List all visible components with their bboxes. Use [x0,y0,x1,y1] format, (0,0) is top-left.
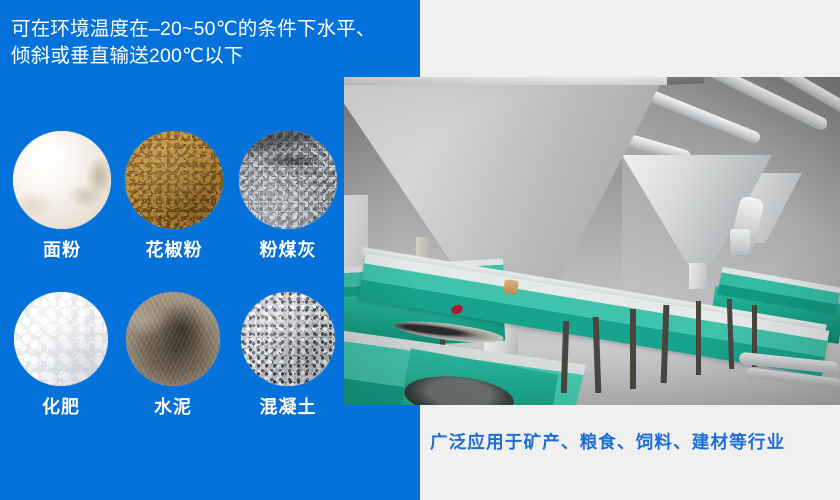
product-image-pepper-powder [125,131,223,229]
product-label-fly-ash: 粉煤灰 [239,236,337,262]
product-image-flour [13,131,111,229]
product-image-fertilizer [14,292,108,386]
factory-photo [344,77,840,405]
promo-banner: 可在环境温度在–20~50℃的条件下水平、 倾斜或垂直输送200℃以下 面粉 花… [0,0,840,500]
product-item-fly-ash: 粉煤灰 [239,131,337,262]
headline-text: 可在环境温度在–20~50℃的条件下水平、 倾斜或垂直输送200℃以下 [11,16,411,70]
product-label-concrete: 混凝土 [241,393,335,419]
product-image-fly-ash [239,131,337,229]
product-item-cement: 水泥 [126,292,220,419]
product-image-cement [126,292,220,386]
product-item-concrete: 混凝土 [241,292,335,419]
product-label-pepper-powder: 花椒粉 [125,236,223,262]
product-item-flour: 面粉 [13,131,111,262]
product-label-flour: 面粉 [13,236,111,262]
usage-caption: 广泛应用于矿产、粮食、饲料、建材等行业 [430,418,835,464]
product-label-cement: 水泥 [126,393,220,419]
product-item-pepper-powder: 花椒粉 [125,131,223,262]
product-image-concrete [241,292,335,386]
product-label-fertilizer: 化肥 [14,393,108,419]
product-item-fertilizer: 化肥 [14,292,108,419]
